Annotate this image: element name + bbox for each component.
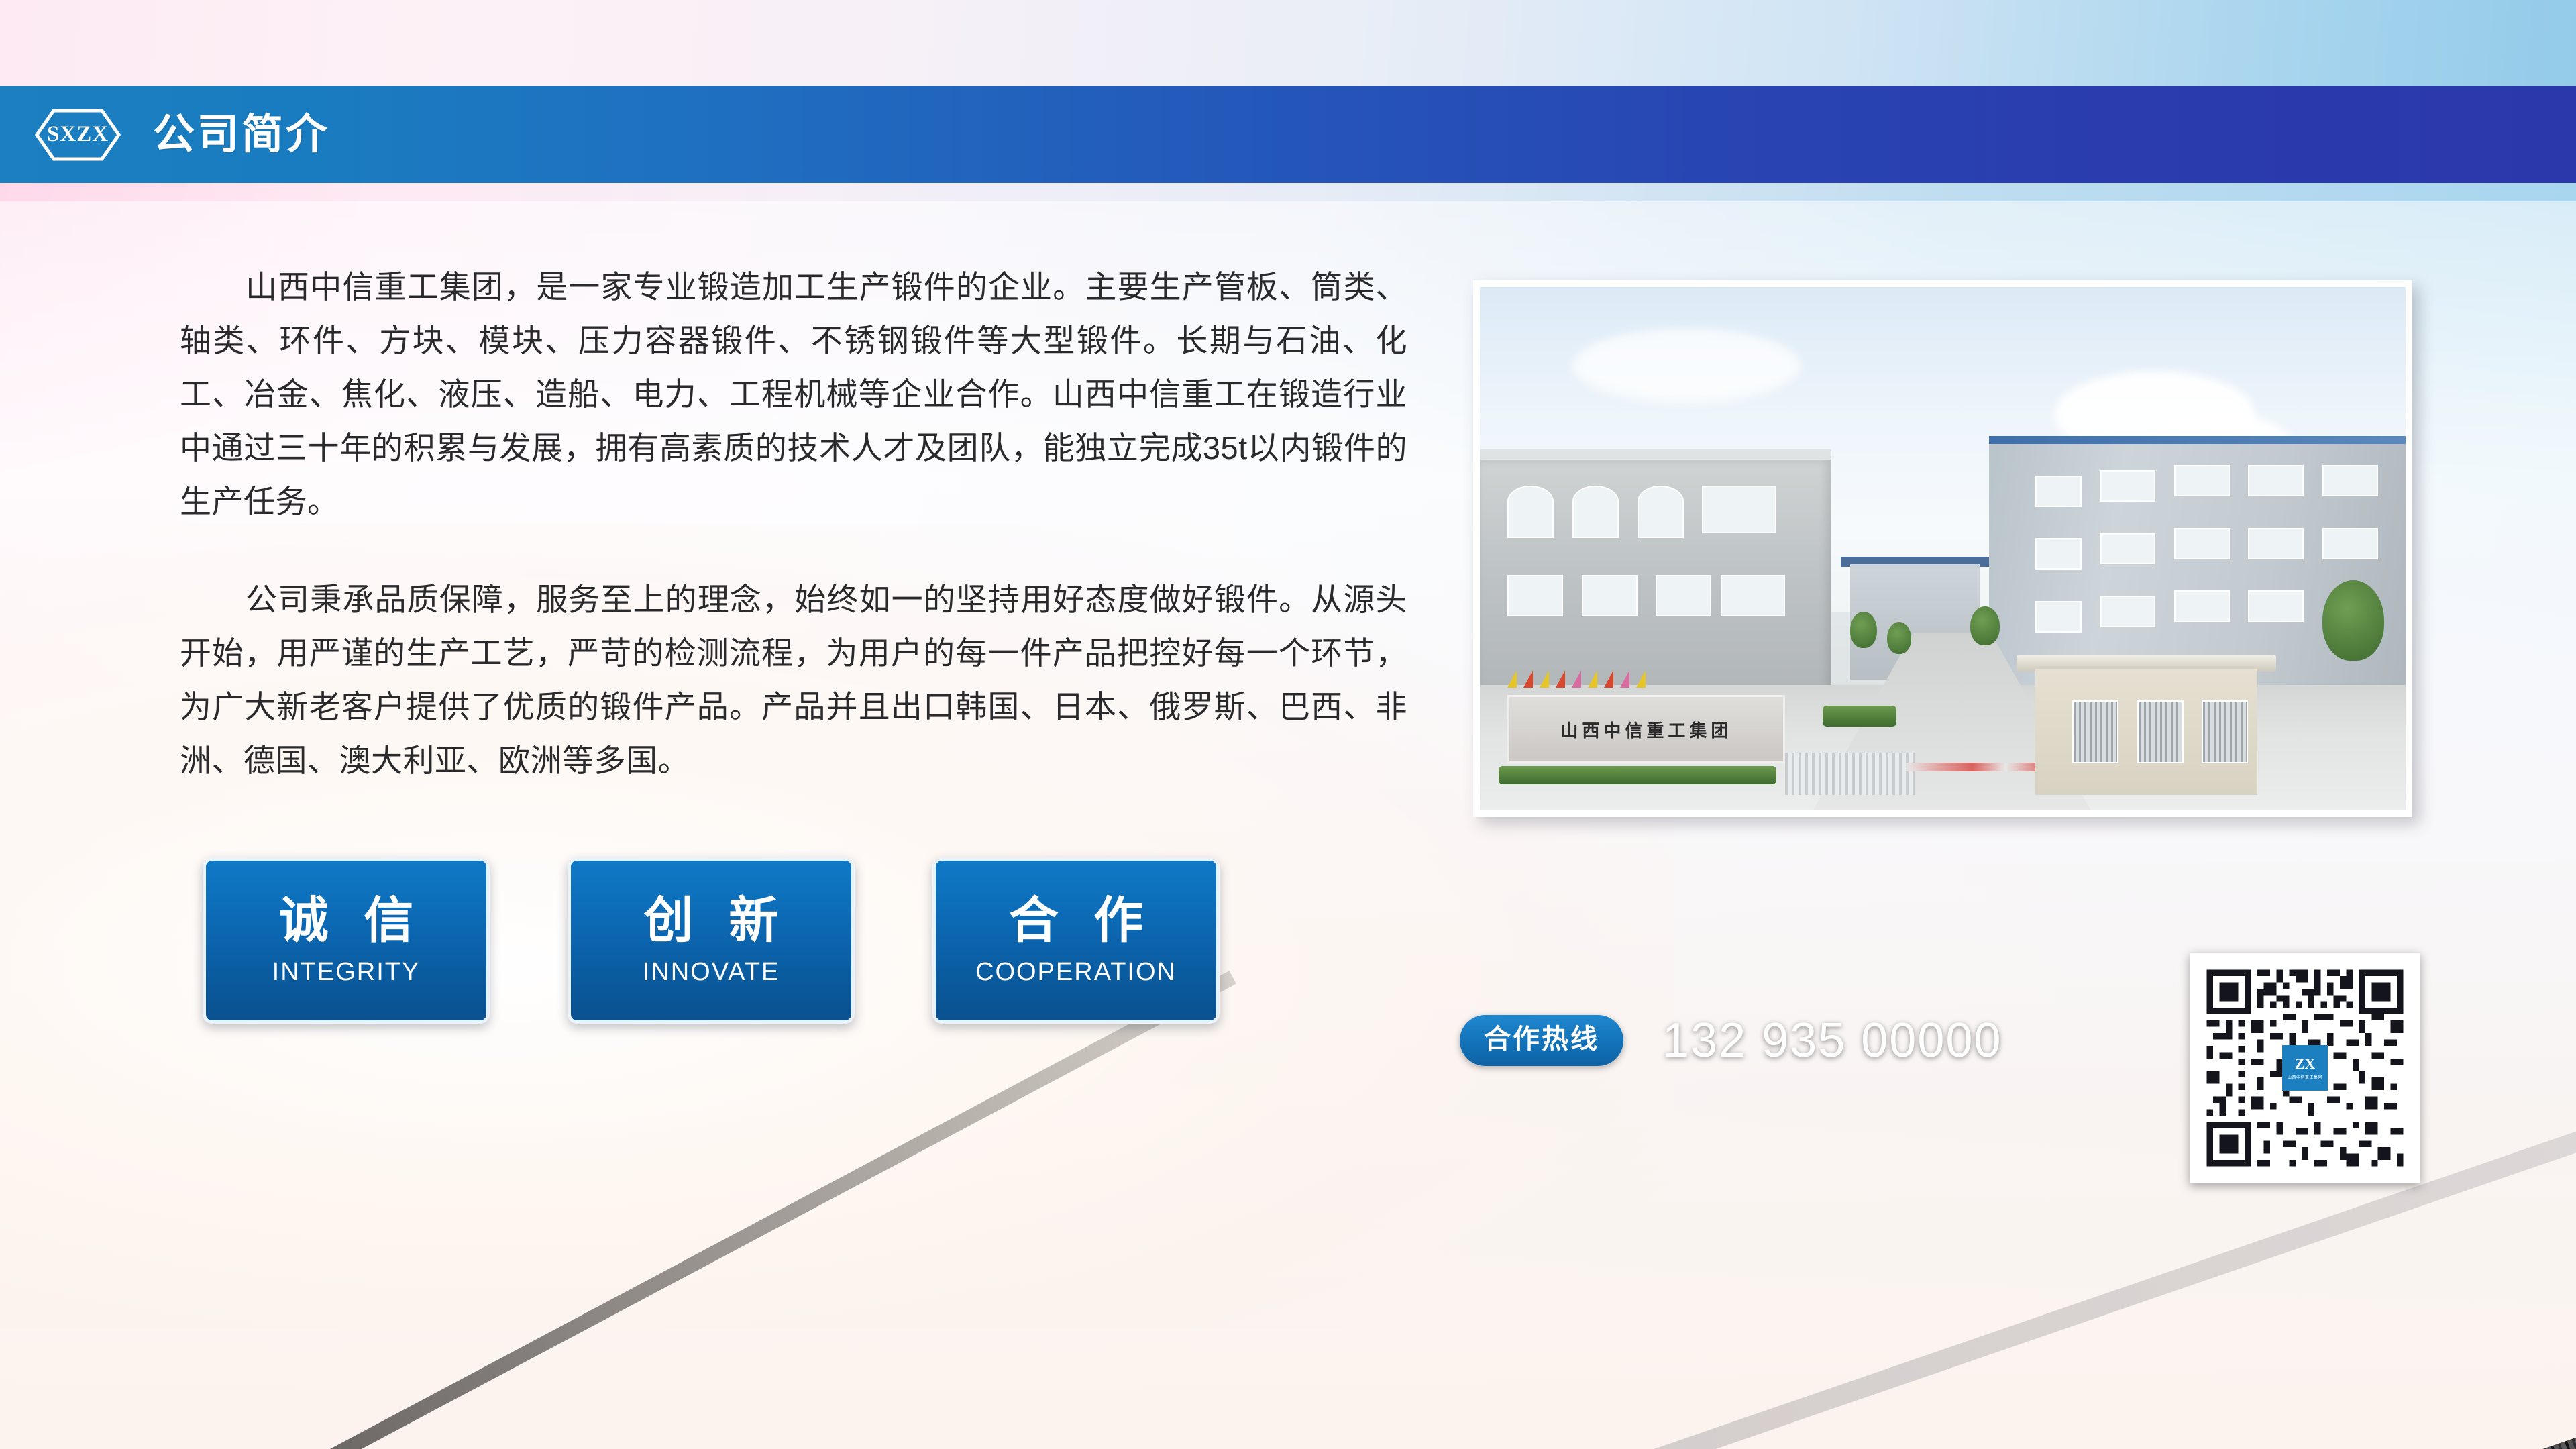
photo-flag [1636,670,1646,688]
photo-guardhouse-window [2202,700,2248,763]
photo-window [1507,575,1563,616]
hotline-number: 132 935 00000 [1662,1013,2002,1068]
company-description: 山西中信重工集团，是一家专业锻造加工生产锻件的企业。主要生产管板、筒类、轴类、环… [180,260,1407,788]
paragraph-2: 公司秉承品质保障，服务至上的理念，始终如一的坚持用好态度做好锻件。从源头开始，用… [180,573,1407,788]
hexagon-logo-icon: SXZX [35,109,121,161]
badge-cn-label: 创 新 [633,894,790,947]
value-badge-cooperation[interactable]: 合 作 COOPERATION [932,857,1220,1024]
photo-window [2248,590,2304,622]
photo-flag [1620,670,1629,688]
badge-en-label: COOPERATION [975,958,1177,987]
badge-en-label: INNOVATE [643,958,780,987]
photo-window [2248,465,2304,496]
photo-window [1572,486,1619,538]
slide-canvas: SXZX 公司简介 山西中信重工集团，是一家专业锻造加工生产锻件的企业。主要生产… [0,0,2576,1449]
photo-flag [1604,670,1613,688]
photo-window [1507,486,1554,538]
qr-logo-text: ZX [2295,1057,2316,1071]
photo-window [1702,486,1776,533]
photo-tree [1970,606,2000,645]
photo-cloud [1572,329,1801,402]
photo-window [2035,538,2082,570]
photo-gate [1785,753,1915,794]
photo-flag [1588,670,1597,688]
photo-window [1582,575,1638,616]
badge-cn-label: 合 作 [998,894,1155,947]
page-title: 公司简介 [153,114,330,156]
photo-flags [1507,661,1785,688]
photo-window [2248,528,2304,559]
tower-left-edge [0,971,1236,1449]
logo-text: SXZX [35,109,121,161]
photo-flag [1523,670,1533,688]
badge-cn-label: 诚 信 [268,894,425,947]
photo-flag [1507,670,1517,688]
photo-window [2035,601,2082,633]
tower-main [1309,1306,2576,1449]
photo-tree [1887,622,1911,654]
header: SXZX 公司简介 [0,86,2576,183]
photo-window [2322,528,2378,559]
photo-window [2174,590,2230,622]
photo-company-sign-text: 山西中信重工集团 [1560,717,1732,742]
photo-flag [1572,670,1581,688]
photo-window [2035,476,2082,507]
factory-photo: 山西中信重工集团 [1480,287,2406,810]
photo-window [2100,533,2156,565]
qr-logo-subtext: 山西中信重工集团 [2288,1074,2322,1080]
factory-photo-frame: 山西中信重工集团 [1473,280,2412,817]
photo-window [2100,596,2156,627]
photo-tree [2322,580,2384,661]
qr-center-logo: ZX 山西中信重工集团 [2282,1045,2328,1091]
photo-guardhouse-window [2137,700,2184,763]
photo-tree [1850,612,1877,648]
hotline-block: 合作热线 132 935 00000 [1460,1013,2002,1068]
photo-window [1721,575,1786,616]
photo-hedge [1499,766,1776,784]
photo-guardhouse-window [2072,700,2118,763]
badge-en-label: INTEGRITY [272,958,421,987]
photo-company-sign: 山西中信重工集团 [1507,695,1785,763]
value-badge-group: 诚 信 INTEGRITY 创 新 INNOVATE 合 作 COOPERATI… [203,857,1220,1024]
hotline-label: 合作热线 [1460,1015,1623,1066]
photo-window [2100,470,2156,502]
value-badge-integrity[interactable]: 诚 信 INTEGRITY [203,857,490,1024]
photo-flag [1556,670,1565,688]
photo-hedge [1823,706,1896,727]
photo-window [1638,486,1684,538]
photo-window [2174,465,2230,496]
photo-window [2174,528,2230,559]
qr-code[interactable]: ZX 山西中信重工集团 [2190,953,2420,1183]
photo-window [1656,575,1711,616]
top-gradient-strip [0,0,2576,86]
value-badge-innovate[interactable]: 创 新 INNOVATE [568,857,855,1024]
photo-flag [1540,670,1549,688]
paragraph-1: 山西中信重工集团，是一家专业锻造加工生产锻件的企业。主要生产管板、筒类、轴类、环… [180,260,1407,529]
photo-window [2322,465,2378,496]
